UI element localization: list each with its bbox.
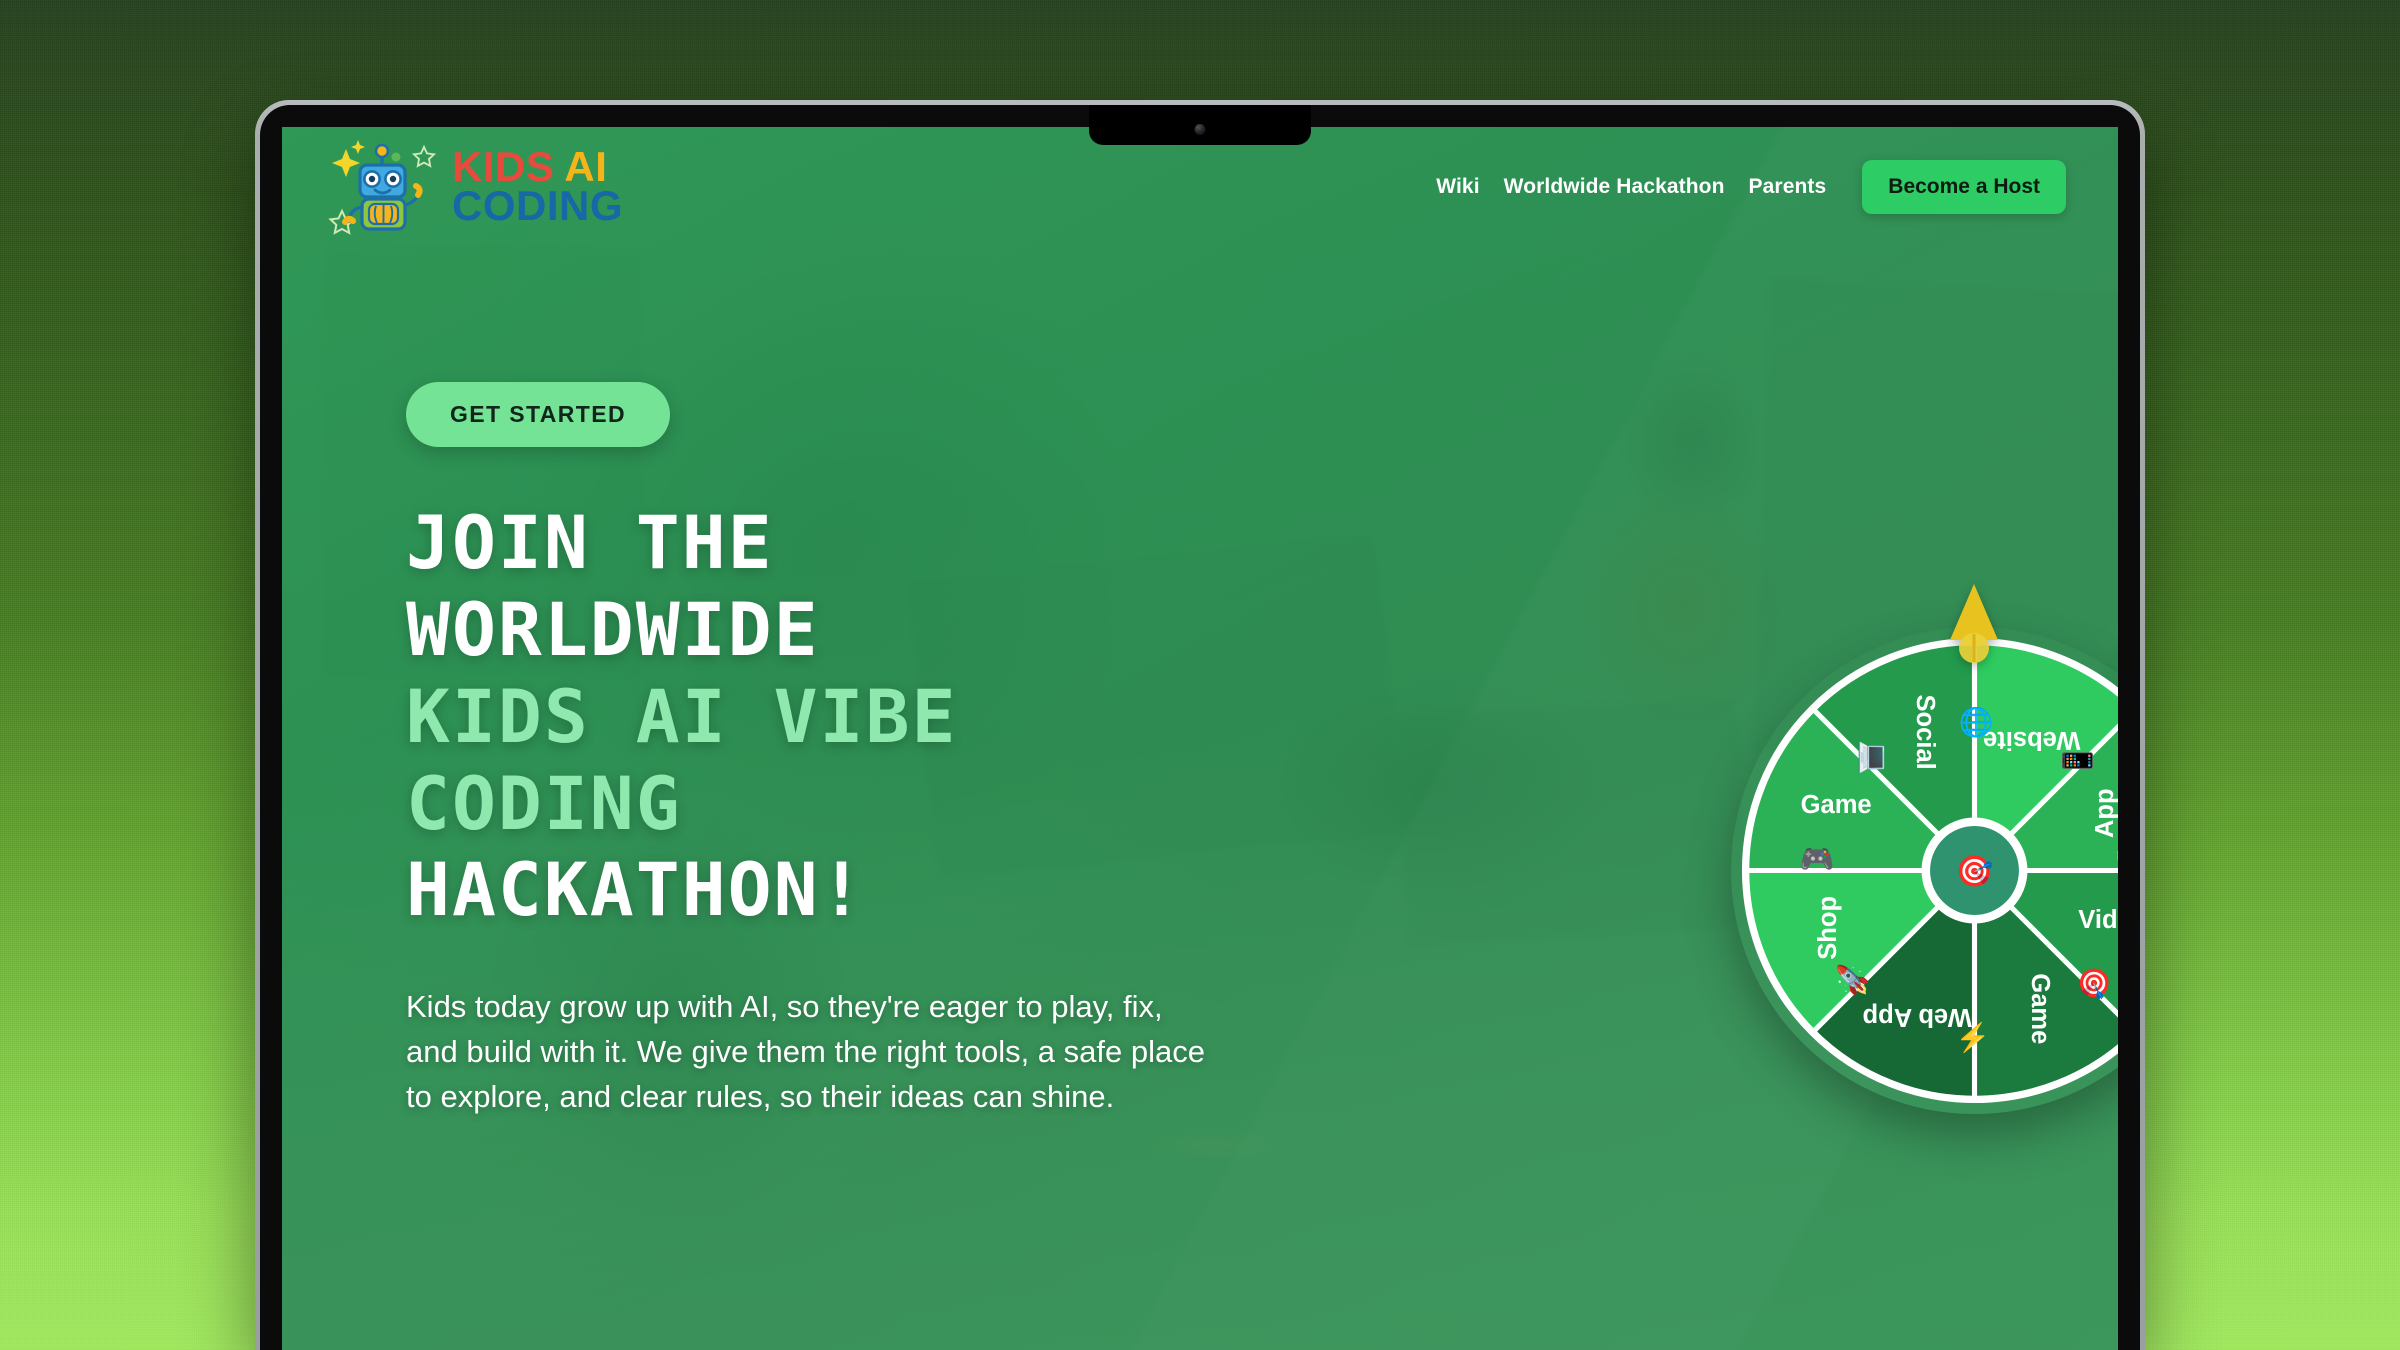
globe-icon: 🌐 [1959, 706, 1994, 739]
laptop-icon: 💻 [1858, 740, 1890, 775]
laptop-notch [1089, 105, 1311, 145]
prize-wheel[interactable]: Game 🎮 Social 💻 Website 🌐 [1709, 582, 2118, 1142]
site-navbar: KIDSAI CODING Wiki Worldwide Hackathon P… [282, 127, 2118, 247]
get-started-button[interactable]: GET STARTED [406, 382, 670, 447]
wheel-label-social: Social [1911, 695, 1939, 770]
become-a-host-button[interactable]: Become a Host [1862, 160, 2066, 214]
target-icon: 🎯 [1956, 854, 1994, 888]
wheel-label-game-bottom: Game [2026, 973, 2054, 1044]
headline-line-4: CODING [406, 762, 1266, 849]
wheel-pointer-icon [1942, 582, 2006, 679]
wheel-label-game-top: Game [1801, 791, 1872, 819]
nav-link-worldwide-hackathon[interactable]: Worldwide Hackathon [1504, 175, 1725, 199]
hero-section: GET STARTED JOIN THE WORLDWIDE KIDS AI V… [406, 382, 1266, 1119]
page-title: JOIN THE WORLDWIDE KIDS AI VIBE CODING H… [406, 501, 1266, 935]
laptop-device-frame: KIDSAI CODING Wiki Worldwide Hackathon P… [255, 100, 2145, 1350]
brand-logo[interactable]: KIDSAI CODING [328, 135, 623, 239]
webcam-icon [1195, 124, 1206, 135]
wheel-svg[interactable]: Game 🎮 Social 💻 Website 🌐 [1731, 627, 2118, 1114]
wordmark-coding: CODING [452, 187, 623, 226]
nav-link-parents[interactable]: Parents [1749, 175, 1827, 199]
wheel-label-shop: Shop [1814, 896, 1842, 960]
robot-mascot-icon [328, 135, 436, 239]
clapboard-icon: 🎬 [2114, 846, 2118, 879]
wheel-label-video: Video [2078, 906, 2118, 934]
gamepad-icon: 🎮 [1800, 844, 1835, 875]
bolt-icon: ⚡ [1955, 1021, 1990, 1054]
target-icon: 🎯 [2078, 966, 2109, 1001]
wheel-disc[interactable]: Game 🎮 Social 💻 Website 🌐 [1731, 627, 2118, 1114]
headline-line-1: JOIN THE [406, 501, 1266, 588]
website-screen: KIDSAI CODING Wiki Worldwide Hackathon P… [282, 127, 2118, 1350]
laptop-bezel: KIDSAI CODING Wiki Worldwide Hackathon P… [260, 105, 2140, 1350]
headline-line-2: WORLDWIDE [406, 588, 1266, 675]
hero-paragraph: Kids today grow up with AI, so they're e… [406, 985, 1206, 1119]
brand-wordmark: KIDSAI CODING [452, 148, 623, 225]
headline-line-3: KIDS AI VIBE [406, 675, 1266, 762]
headline-line-5: HACKATHON! [406, 848, 1266, 935]
wheel-label-app: App [2091, 788, 2118, 838]
nav-link-wiki[interactable]: Wiki [1436, 175, 1479, 199]
phone-icon: 📱 [2061, 743, 2094, 778]
rocket-icon: 🚀 [1836, 963, 1869, 998]
navbar-links: Wiki Worldwide Hackathon Parents Become … [1436, 160, 2066, 214]
